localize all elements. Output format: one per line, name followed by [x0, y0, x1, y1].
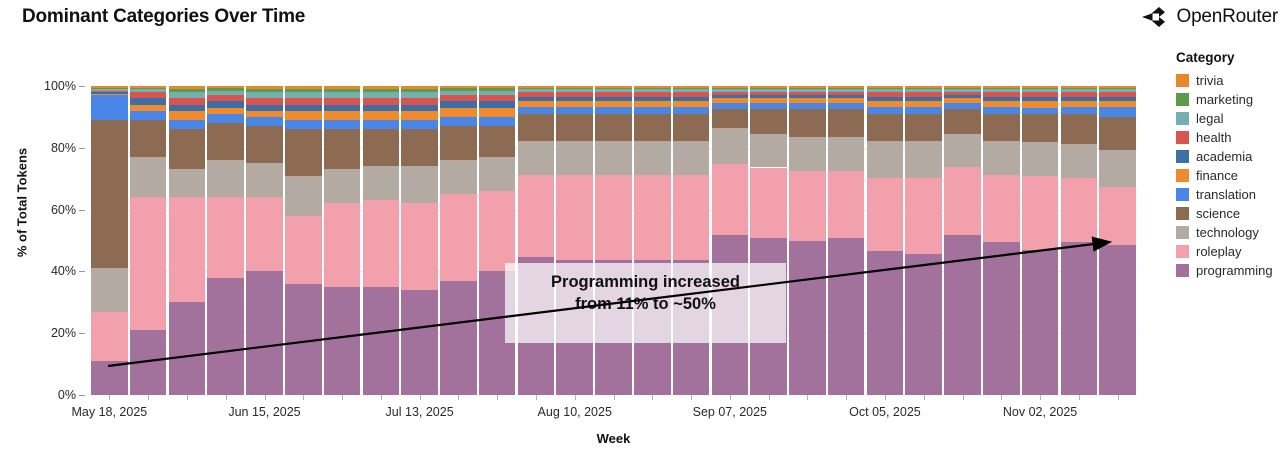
bar-segment-trivia [595, 86, 632, 88]
legend-swatch-icon [1176, 226, 1189, 239]
bar-segment-academia [712, 95, 749, 98]
bar-segment-technology [91, 268, 128, 311]
bar-segment-academia [789, 95, 826, 98]
bar-segment-trivia [169, 86, 206, 89]
bar-segment-finance [479, 108, 516, 117]
stacked-bar-column [789, 86, 826, 395]
bar-segment-science [556, 114, 593, 142]
legend-swatch-icon [1176, 150, 1189, 163]
bar-segment-health [1022, 92, 1059, 97]
bar-segment-health [130, 92, 167, 98]
bar-segment-academia [518, 97, 555, 102]
bar-segment-technology [130, 157, 167, 197]
bar-segment-finance [789, 98, 826, 103]
bar-segment-translation [246, 117, 283, 126]
stacked-bar-column [363, 86, 400, 395]
bar-segment-roleplay [556, 175, 593, 261]
bar-segment-technology [634, 141, 671, 175]
bar-segment-legal [634, 89, 671, 92]
bar-segment-health [91, 91, 128, 93]
x-axis-tick-mark [381, 395, 382, 400]
bar-segment-finance [324, 111, 361, 120]
bar-segment-translation [91, 95, 128, 120]
y-axis: 0%20%40%60%80%100% [0, 86, 88, 395]
bar-segment-academia [285, 105, 322, 111]
bar-segment-programming [324, 287, 361, 395]
bar-segment-roleplay [944, 167, 981, 235]
bar-segment-marketing [556, 88, 593, 90]
x-axis-tick-mark [652, 395, 653, 400]
legend-item-label: roleplay [1196, 244, 1242, 259]
bar-segment-programming [789, 241, 826, 395]
bar-segment-programming [440, 281, 477, 395]
x-axis-tick-mark [1040, 395, 1041, 400]
bar-segment-finance [595, 101, 632, 107]
brand: OpenRouter [1139, 4, 1278, 30]
bar-segment-finance [518, 101, 555, 107]
y-axis-tick-label: 80% [51, 141, 76, 155]
bar-segment-technology [867, 141, 904, 178]
bar-segment-roleplay [789, 171, 826, 242]
bar-segment-legal [207, 91, 244, 96]
bar-segment-science [518, 114, 555, 142]
bar-segment-finance [130, 105, 167, 111]
y-axis-tick-mark [79, 210, 85, 211]
legend-swatch-icon [1176, 93, 1189, 106]
bar-segment-science [285, 129, 322, 175]
stacked-bar-column [1061, 86, 1098, 395]
legend-swatch-icon [1176, 245, 1189, 258]
bar-segment-academia [207, 101, 244, 107]
bar-segment-legal [130, 89, 167, 92]
bar-segment-technology [401, 166, 438, 203]
bar-segment-translation [324, 120, 361, 129]
bar-segment-finance [750, 98, 787, 103]
y-axis-tick-label: 100% [44, 79, 76, 93]
bar-segment-trivia [324, 86, 361, 89]
x-axis-tick-mark [807, 395, 808, 400]
bar-segment-health [363, 98, 400, 104]
legend-swatch-icon [1176, 188, 1189, 201]
y-axis-tick-label: 60% [51, 203, 76, 217]
bar-segment-roleplay [828, 171, 865, 239]
openrouter-chevron-icon [1139, 4, 1167, 30]
stacked-bar-column [1022, 86, 1059, 395]
stacked-bar-column [944, 86, 981, 395]
bar-segment-legal [518, 89, 555, 92]
bar-segment-translation [944, 103, 981, 109]
bar-segment-trivia [750, 86, 787, 88]
bar-segment-science [983, 114, 1020, 142]
x-axis-tick-mark [109, 395, 110, 400]
x-axis-tick-mark [303, 395, 304, 400]
bar-segment-translation [1022, 108, 1059, 114]
bar-segment-legal [983, 89, 1020, 92]
bar-segment-roleplay [246, 197, 283, 271]
bar-segment-translation [867, 107, 904, 113]
bar-segment-academia [634, 97, 671, 102]
legend-swatch-icon [1176, 169, 1189, 182]
bar-segment-trivia [556, 86, 593, 88]
stacked-bar-column [324, 86, 361, 395]
bar-segment-trivia [905, 86, 942, 88]
bar-segment-technology [944, 134, 981, 168]
legend-title: Category [1176, 50, 1288, 65]
bar-segment-finance [828, 98, 865, 103]
bar-segment-health [285, 98, 322, 104]
x-axis-tick-mark [536, 395, 537, 400]
bar-segment-trivia [440, 86, 477, 88]
bar-segment-academia [828, 95, 865, 98]
bar-segment-marketing [867, 88, 904, 90]
stacked-bar-column [440, 86, 477, 395]
bar-segment-roleplay [130, 197, 167, 330]
bar-segment-trivia [828, 86, 865, 88]
legend-item-technology[interactable]: technology [1176, 223, 1288, 242]
bar-segment-marketing [479, 88, 516, 91]
bar-segment-programming [867, 251, 904, 395]
bar-segment-trivia [983, 86, 1020, 88]
stacked-bar-column [130, 86, 167, 395]
legend-swatch-icon [1176, 207, 1189, 220]
bar-segment-health [867, 92, 904, 97]
legend-item-label: legal [1196, 111, 1223, 126]
bar-segment-science [1061, 114, 1098, 145]
y-axis-tick-label: 20% [51, 326, 76, 340]
bar-segment-programming [401, 290, 438, 395]
bar-segment-translation [1061, 107, 1098, 113]
bar-segment-marketing [712, 88, 749, 90]
bar-segment-technology [169, 169, 206, 197]
bar-segment-translation [440, 117, 477, 126]
x-axis-tick-mark [924, 395, 925, 400]
bar-segment-academia [1022, 97, 1059, 102]
bar-segment-translation [712, 103, 749, 109]
bar-segment-marketing [363, 89, 400, 92]
x-axis-tick-label: Sep 07, 2025 [693, 405, 767, 419]
bar-segment-academia [1099, 97, 1136, 102]
bar-segment-marketing [1022, 88, 1059, 90]
bar-segment-trivia [363, 86, 400, 89]
bar-segment-roleplay [324, 203, 361, 286]
bar-segment-roleplay [285, 216, 322, 284]
bar-segment-programming [169, 302, 206, 395]
bar-segment-science [712, 109, 749, 127]
x-axis-tick-mark [1079, 395, 1080, 400]
bar-segment-science [363, 129, 400, 166]
legend-item-label: technology [1196, 225, 1259, 240]
bar-segment-programming [1099, 245, 1136, 395]
bar-segment-legal [440, 91, 477, 96]
bar-segment-roleplay [169, 197, 206, 302]
y-axis-tick-mark [79, 395, 85, 396]
legend-item-marketing[interactable]: marketing [1176, 90, 1288, 109]
bar-segment-health [518, 92, 555, 97]
bar-segment-trivia [789, 86, 826, 88]
x-axis-tick-mark [187, 395, 188, 400]
bar-segment-academia [905, 97, 942, 102]
bar-segment-marketing [1099, 88, 1136, 90]
bar-segment-health [712, 92, 749, 95]
bar-segment-translation [363, 120, 400, 129]
bar-segment-finance [91, 94, 128, 96]
x-axis-tick-mark [148, 395, 149, 400]
bar-segment-finance [905, 101, 942, 107]
bar-segment-programming [905, 254, 942, 395]
bar-segment-academia [440, 101, 477, 107]
bar-segment-technology [595, 141, 632, 175]
bar-segment-science [479, 126, 516, 157]
bar-segment-health [1061, 92, 1098, 97]
legend-swatch-icon [1176, 264, 1189, 277]
bar-segment-technology [1099, 150, 1136, 187]
bar-segment-marketing [518, 88, 555, 90]
bar-segment-health [169, 98, 206, 104]
bar-segment-trivia [1061, 86, 1098, 88]
bar-segment-academia [673, 97, 710, 102]
x-axis-tick-label: Nov 02, 2025 [1003, 405, 1077, 419]
bar-segment-translation [169, 120, 206, 129]
bar-segment-legal [750, 89, 787, 92]
stacked-bar-column [207, 86, 244, 395]
bar-segment-technology [440, 160, 477, 194]
x-axis-tick-mark [1118, 395, 1119, 400]
x-axis-tick-label: Jul 13, 2025 [386, 405, 454, 419]
bar-segment-legal [867, 89, 904, 92]
bar-segment-finance [1099, 101, 1136, 107]
legend-item-label: marketing [1196, 92, 1253, 107]
y-axis-label: % of Total Tokens [15, 123, 30, 283]
bar-segment-finance [556, 101, 593, 107]
bar-segment-technology [1022, 142, 1059, 176]
stacked-bar-column [867, 86, 904, 395]
x-axis-tick-mark [769, 395, 770, 400]
bar-segment-academia [246, 105, 283, 111]
stacked-bar-column [673, 86, 710, 395]
bar-segment-roleplay [595, 175, 632, 261]
bar-segment-translation [479, 117, 516, 126]
bar-segment-science [440, 126, 477, 160]
bar-segment-marketing [324, 89, 361, 92]
legend-item-roleplay[interactable]: roleplay [1176, 242, 1288, 261]
bar-segment-translation [1099, 107, 1136, 116]
bar-segment-health [983, 92, 1020, 97]
bar-segment-roleplay [634, 175, 671, 261]
legend-item-trivia[interactable]: trivia [1176, 71, 1288, 90]
legend-swatch-icon [1176, 74, 1189, 87]
legend-item-science[interactable]: science [1176, 204, 1288, 223]
bar-segment-science [91, 120, 128, 268]
brand-name: OpenRouter [1176, 6, 1278, 28]
bar-segment-technology [285, 176, 322, 216]
bar-segment-translation [983, 107, 1020, 113]
legend-item-label: trivia [1196, 73, 1223, 88]
legend-item-label: programming [1196, 263, 1273, 278]
bar-segment-marketing [750, 88, 787, 90]
bar-segment-roleplay [440, 194, 477, 281]
stacked-bar-column [905, 86, 942, 395]
bar-segment-finance [944, 98, 981, 103]
bar-segment-science [169, 129, 206, 169]
legend-item-label: translation [1196, 187, 1256, 202]
bar-segment-translation [750, 103, 787, 109]
bar-segment-trivia [91, 86, 128, 88]
bar-segment-programming [207, 278, 244, 395]
page-title: Dominant Categories Over Time [22, 6, 305, 28]
bar-segment-health [944, 92, 981, 95]
y-axis-tick-mark [79, 271, 85, 272]
legend-item-translation[interactable]: translation [1176, 185, 1288, 204]
y-axis-tick-mark [79, 333, 85, 334]
bar-segment-roleplay [712, 164, 749, 235]
bar-segment-marketing [130, 88, 167, 90]
bar-segment-roleplay [363, 200, 400, 287]
bar-segment-legal [324, 92, 361, 98]
bar-segment-translation [207, 114, 244, 123]
bar-segment-technology [789, 137, 826, 171]
x-axis-label: Week [90, 431, 1137, 446]
legend-item-academia[interactable]: academia [1176, 147, 1288, 166]
bar-segment-trivia [944, 86, 981, 88]
bar-segment-academia [867, 97, 904, 102]
bar-segment-translation [634, 107, 671, 113]
bar-segment-science [207, 123, 244, 160]
legend: Category triviamarketinglegalhealthacade… [1176, 50, 1288, 280]
bar-segment-health [324, 98, 361, 104]
bar-segment-legal [246, 92, 283, 98]
bar-segment-science [130, 120, 167, 157]
bar-segment-finance [363, 111, 400, 120]
x-axis-tick-mark [575, 395, 576, 400]
bar-segment-finance [207, 108, 244, 114]
bar-segment-translation [556, 107, 593, 113]
bar-segment-marketing [246, 89, 283, 92]
bar-segment-legal [828, 89, 865, 92]
bar-segment-roleplay [983, 175, 1020, 242]
bar-segment-health [634, 92, 671, 97]
bar-segment-academia [324, 105, 361, 111]
bar-segment-roleplay [518, 175, 555, 258]
stacked-bar-column [91, 86, 128, 395]
bar-segment-programming [285, 284, 322, 395]
y-axis-tick-label: 40% [51, 264, 76, 278]
stacked-bar-column [712, 86, 749, 395]
bar-segment-science [595, 114, 632, 142]
bar-segment-trivia [207, 86, 244, 88]
bar-segment-finance [440, 108, 477, 117]
bar-segment-marketing [983, 88, 1020, 90]
bar-segment-programming [983, 242, 1020, 395]
bar-segment-health [1099, 92, 1136, 97]
bar-segment-finance [634, 101, 671, 107]
x-axis-tick-mark [458, 395, 459, 400]
bar-segment-programming [1022, 250, 1059, 395]
x-axis-tick-mark [730, 395, 731, 400]
bar-segment-science [1099, 117, 1136, 151]
legend-item-legal[interactable]: legal [1176, 109, 1288, 128]
x-axis-tick-mark [342, 395, 343, 400]
bar-segment-legal [169, 92, 206, 98]
bar-segment-technology [828, 137, 865, 171]
bar-segment-roleplay [401, 203, 438, 290]
bar-segment-academia [944, 95, 981, 98]
bar-segment-marketing [1061, 88, 1098, 90]
bar-segment-trivia [518, 86, 555, 88]
bar-segment-roleplay [673, 175, 710, 261]
stacked-bar-column [828, 86, 865, 395]
bar-segment-trivia [867, 86, 904, 88]
bar-segment-programming [828, 238, 865, 395]
bar-segment-finance [285, 111, 322, 120]
bar-segment-roleplay [91, 312, 128, 361]
x-axis-tick-mark [963, 395, 964, 400]
bar-segment-academia [169, 105, 206, 111]
bar-segment-technology [556, 141, 593, 175]
bar-segment-trivia [401, 86, 438, 89]
bar-segment-academia [479, 101, 516, 107]
bar-segment-technology [207, 160, 244, 197]
bar-segment-legal [401, 92, 438, 98]
bar-segment-science [324, 129, 361, 169]
stacked-bar-column [750, 86, 787, 395]
x-axis-tick-label: May 18, 2025 [72, 405, 148, 419]
stacked-bar-column [401, 86, 438, 395]
stacked-bar-column [1099, 86, 1136, 395]
bar-segment-marketing [905, 88, 942, 90]
bar-segment-academia [983, 97, 1020, 102]
bar-segment-translation [285, 120, 322, 129]
bar-segment-technology [246, 163, 283, 197]
bar-segment-academia [363, 105, 400, 111]
x-axis-tick-mark [420, 395, 421, 400]
bar-segment-science [828, 109, 865, 137]
bar-segment-roleplay [905, 178, 942, 254]
stacked-bar-column [518, 86, 555, 395]
y-axis-tick-mark [79, 148, 85, 149]
x-axis-tick-label: Aug 10, 2025 [538, 405, 612, 419]
bar-segment-health [246, 98, 283, 104]
bar-segment-finance [983, 101, 1020, 107]
legend-item-finance[interactable]: finance [1176, 166, 1288, 185]
bar-segment-legal [556, 89, 593, 92]
x-axis-tick-label: Jun 15, 2025 [228, 405, 300, 419]
bar-segment-health [207, 95, 244, 101]
bar-segment-legal [944, 89, 981, 92]
x-axis-tick-mark [497, 395, 498, 400]
bar-segment-programming [130, 330, 167, 395]
legend-item-health[interactable]: health [1176, 128, 1288, 147]
bar-segment-finance [169, 111, 206, 120]
legend-items: triviamarketinglegalhealthacademiafinanc… [1176, 71, 1288, 280]
bar-segment-translation [401, 120, 438, 129]
bar-segment-programming [363, 287, 400, 395]
bar-segment-science [944, 109, 981, 134]
bar-segment-academia [556, 97, 593, 102]
bar-segment-trivia [634, 86, 671, 88]
bar-segment-finance [673, 101, 710, 107]
bar-segment-academia [595, 97, 632, 102]
bar-segment-technology [363, 166, 400, 200]
bar-segment-marketing [401, 89, 438, 92]
bar-segment-trivia [712, 86, 749, 88]
bar-segment-technology [479, 157, 516, 191]
legend-item-programming[interactable]: programming [1176, 261, 1288, 280]
bar-segment-legal [712, 89, 749, 92]
bar-segment-roleplay [207, 197, 244, 277]
bar-segment-translation [905, 107, 942, 113]
bar-segment-translation [595, 107, 632, 113]
bar-segment-marketing [634, 88, 671, 90]
